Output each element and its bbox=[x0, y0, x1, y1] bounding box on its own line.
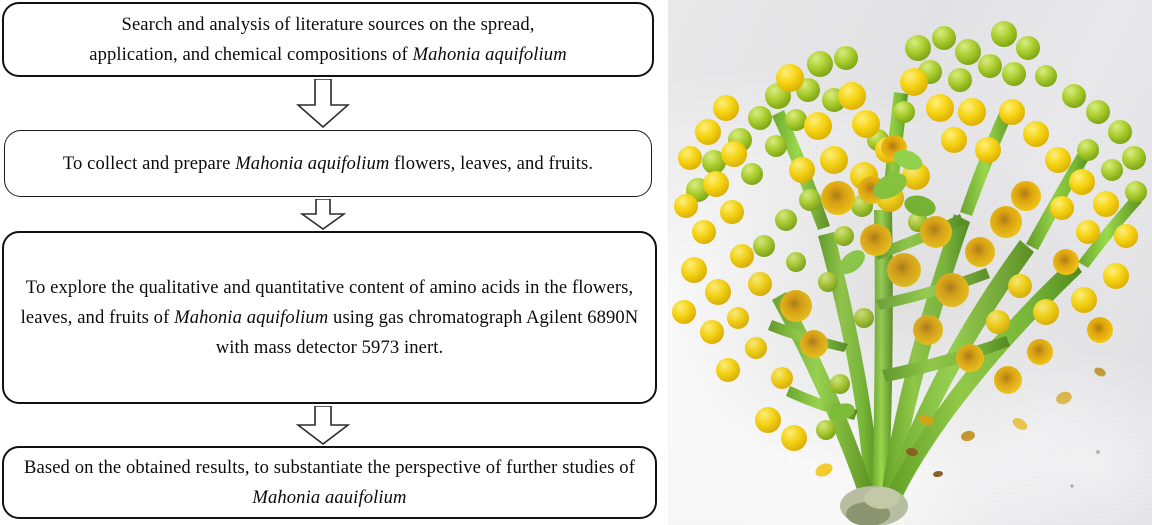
step-1-line-1: Search and analysis of literature source… bbox=[122, 14, 535, 35]
step-4-species-name: Mahonia aauifolium bbox=[252, 487, 406, 508]
flowchart-step-1: Search and analysis of literature source… bbox=[2, 2, 654, 77]
flowchart-step-2: To collect and prepare Mahonia aquifoliu… bbox=[4, 130, 652, 197]
step-2-species-name: Mahonia aquifolium bbox=[235, 153, 389, 174]
photo-shading bbox=[668, 0, 1152, 525]
connector-2 bbox=[300, 199, 346, 230]
flowchart-panel: Search and analysis of literature source… bbox=[0, 0, 668, 525]
connector-1 bbox=[296, 79, 350, 128]
step-2-text-tail: flowers, leaves, and fruits. bbox=[389, 153, 593, 174]
figure-root: Search and analysis of literature source… bbox=[0, 0, 1152, 525]
flowchart-step-3: To explore the qualitative and quantitat… bbox=[2, 231, 657, 404]
down-block-arrow-icon bbox=[296, 406, 350, 445]
connector-3 bbox=[296, 406, 350, 445]
flowchart-step-4: Based on the obtained results, to substa… bbox=[2, 446, 657, 519]
step-3-species-name: Mahonia aquifolium bbox=[174, 307, 328, 328]
specimen-photograph bbox=[668, 0, 1152, 525]
step-1-line-2: application, and chemical compositions o… bbox=[89, 44, 412, 65]
step-1-species-name: Mahonia aquifolium bbox=[413, 44, 567, 65]
step-2-text-lead: To collect and prepare bbox=[63, 153, 235, 174]
step-4-text-lead: Based on the obtained results, to substa… bbox=[24, 457, 635, 478]
down-block-arrow-icon bbox=[296, 79, 350, 128]
down-block-arrow-icon bbox=[300, 199, 346, 230]
